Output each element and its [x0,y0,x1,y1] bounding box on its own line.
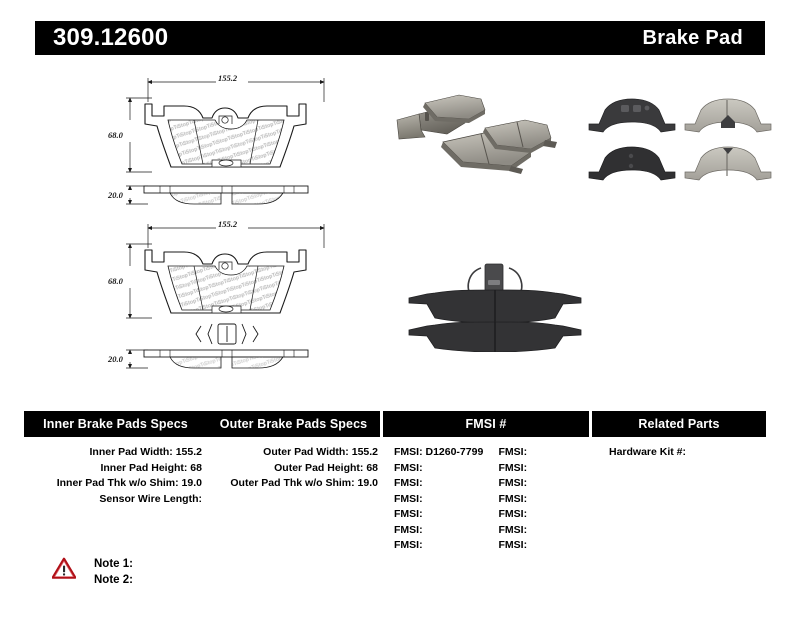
outer-pad-width-dimension: 155.2 [218,219,237,229]
inner-specs-column: Inner Pad Width: 155.2 Inner Pad Height:… [24,445,210,554]
spec-row: Sensor Wire Length: [24,492,210,508]
spec-row: Outer Pad Height: 68 [210,461,386,477]
inner-pad-thickness-dimension: 20.0 [108,190,123,200]
fmsi-row: FMSI: [386,476,491,492]
spec-table-body: Inner Pad Width: 155.2 Inner Pad Height:… [24,437,766,554]
related-parts-column: Hardware Kit #: [595,445,769,554]
fmsi-row: FMSI: [491,461,596,477]
fmsi-row: FMSI: D1260-7799 [386,445,491,461]
part-number: 309.12600 [53,26,168,50]
fmsi-row: FMSI: [491,445,596,461]
spec-table: Inner Brake Pads Specs Outer Brake Pads … [24,411,766,554]
page-title: Brake Pad [642,28,743,48]
pad-pair-edge-view-photo [395,260,595,352]
fmsi-row: FMSI: [386,523,491,539]
fmsi-row: FMSI: [386,461,491,477]
note-line: Note 1: [94,556,133,572]
inner-pad-width-dimension: 155.2 [218,73,237,83]
spec-row: Outer Pad Width: 155.2 [210,445,386,461]
notes-section: Note 1: Note 2: [52,556,133,588]
warning-triangle-icon [52,557,76,579]
fmsi-row: FMSI: [491,476,596,492]
header-bar: 309.12600 Brake Pad [35,21,765,55]
fmsi-column: FMSI: D1260-7799 FMSI: FMSI: FMSI: FMSI:… [386,445,595,554]
spec-row: Outer Pad Thk w/o Shim: 19.0 [210,476,386,492]
fmsi-row: FMSI: [491,538,596,554]
pad-set-angled-photo [385,90,570,180]
inner-pad-height-dimension: 68.0 [108,130,123,140]
column-header-fmsi: FMSI # [383,411,589,437]
technical-drawings: StopTech StopTech [108,68,348,378]
notes-text-block: Note 1: Note 2: [94,556,133,588]
outer-specs-column: Outer Pad Width: 155.2 Outer Pad Height:… [210,445,386,554]
fmsi-sub-column-left: FMSI: D1260-7799 FMSI: FMSI: FMSI: FMSI:… [386,445,491,554]
spec-table-header-row: Inner Brake Pads Specs Outer Brake Pads … [24,411,766,437]
related-part-row: Hardware Kit #: [595,445,769,461]
fmsi-row: FMSI: [386,507,491,523]
column-header-related-parts: Related Parts [592,411,766,437]
fmsi-row: FMSI: [491,492,596,508]
fmsi-row: FMSI: [491,507,596,523]
spec-row: Inner Pad Width: 155.2 [24,445,210,461]
fmsi-sub-column-right: FMSI: FMSI: FMSI: FMSI: FMSI: FMSI: FMSI… [491,445,596,554]
note-line: Note 2: [94,572,133,588]
pad-set-front-back-photo [585,88,775,183]
outer-pad-thickness-dimension: 20.0 [108,354,123,364]
outer-pad-height-dimension: 68.0 [108,276,123,286]
column-header-outer-specs: Outer Brake Pads Specs [207,411,380,437]
product-photos [385,80,785,370]
spec-row: Inner Pad Thk w/o Shim: 19.0 [24,476,210,492]
spec-row: Inner Pad Height: 68 [24,461,210,477]
fmsi-row: FMSI: [491,523,596,539]
fmsi-row: FMSI: [386,492,491,508]
fmsi-row: FMSI: [386,538,491,554]
column-header-inner-specs: Inner Brake Pads Specs [24,411,207,437]
